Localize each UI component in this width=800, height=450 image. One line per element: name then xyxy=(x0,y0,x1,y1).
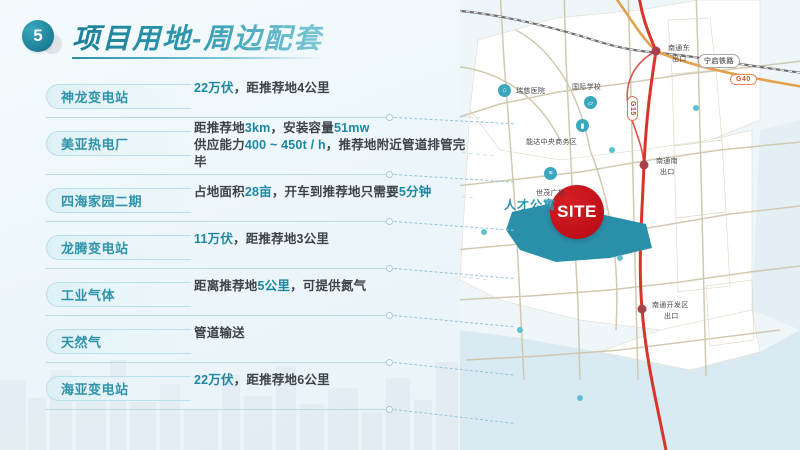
description-text: 距推荐地 xyxy=(194,121,245,135)
facility-description-line: 供应能力400 ~ 450t / h，推荐地附近管道排管完毕 xyxy=(194,137,474,171)
connector-line xyxy=(46,221,386,222)
map-label-hospital: 瑞慈医院 xyxy=(516,86,545,96)
map-label-school: 国际学校 xyxy=(572,82,601,92)
facility-description: 22万伏，距推荐地4公里 xyxy=(194,80,474,97)
connector-line xyxy=(46,362,386,363)
facility-description: 距离推荐地5公里，可提供氮气 xyxy=(194,278,474,295)
slide-header: 5 项目用地-周边配套 xyxy=(22,20,323,60)
facility-description-line: 占地面积28亩，开车到推荐地只需要5分钟 xyxy=(194,184,474,201)
facility-name: 美亚热电厂 xyxy=(61,132,129,157)
map-label-talent-apartment: 人才公寓 xyxy=(504,196,556,213)
facility-connector xyxy=(46,170,796,179)
facility-description-line: 距离推荐地5公里，可提供氮气 xyxy=(194,278,474,295)
connector-dot xyxy=(386,312,393,319)
facility-name: 神龙变电站 xyxy=(61,85,129,110)
facility-name: 天然气 xyxy=(61,330,102,355)
map-label-exit-east-l2: 出口 xyxy=(672,54,687,64)
description-text: 距离推荐地 xyxy=(194,279,258,293)
page-title: 项目用地-周边配套 xyxy=(72,22,323,56)
description-text: ，开车到推荐地只需要 xyxy=(272,185,399,199)
facility-description: 管道输送 xyxy=(194,325,474,342)
connector-dot xyxy=(386,218,393,225)
facility-name: 工业气体 xyxy=(61,283,115,308)
facility-description-line: 管道输送 xyxy=(194,325,474,342)
facility-row[interactable]: 美亚热电厂距推荐地3km，安装容量51mw供应能力400 ~ 450t / h，… xyxy=(46,125,466,182)
facility-row[interactable]: 海亚变电站22万伏，距推荐地6公里 xyxy=(46,370,466,417)
shield-ningqi-railway: 宁启铁路 xyxy=(698,54,740,68)
map-label-cbd: 能达中央商务区 xyxy=(526,137,577,147)
connector-line xyxy=(46,409,386,410)
description-text: ，距推荐地3公里 xyxy=(233,232,329,246)
facility-pill: 龙腾变电站 xyxy=(46,235,191,260)
facility-description-line: 22万伏，距推荐地4公里 xyxy=(194,80,474,97)
facility-connector xyxy=(46,264,796,273)
facility-list: 神龙变电站22万伏，距推荐地4公里美亚热电厂距推荐地3km，安装容量51mw供应… xyxy=(46,78,466,417)
facility-description: 22万伏，距推荐地6公里 xyxy=(194,372,474,389)
facility-description-line: 距推荐地3km，安装容量51mw xyxy=(194,120,474,137)
title-underline xyxy=(72,57,323,59)
facility-pill: 海亚变电站 xyxy=(46,376,191,401)
facility-connector xyxy=(46,405,796,414)
connector-dot xyxy=(386,171,393,178)
facility-pill: 天然气 xyxy=(46,329,191,354)
facility-pill: 神龙变电站 xyxy=(46,84,191,109)
highlight-value: 51mw xyxy=(334,121,370,135)
facility-row[interactable]: 四海家园二期占地面积28亩，开车到推荐地只需要5分钟 xyxy=(46,182,466,229)
highlight-value: 11万伏 xyxy=(194,232,233,246)
hospital-icon: ⌂ xyxy=(498,84,511,97)
facility-description: 占地面积28亩，开车到推荐地只需要5分钟 xyxy=(194,184,474,201)
description-text: 供应能力 xyxy=(194,138,245,152)
connector-line xyxy=(46,268,386,269)
facility-name: 四海家园二期 xyxy=(61,189,142,214)
facility-name: 龙腾变电站 xyxy=(61,236,129,261)
facility-pill: 美亚热电厂 xyxy=(46,131,191,156)
description-text: 管道输送 xyxy=(194,326,245,340)
description-text: ，可提供氮气 xyxy=(290,279,366,293)
map-label-plaza: 世茂广场 xyxy=(536,188,565,198)
highlight-value: 22万伏 xyxy=(194,373,234,387)
slide-root: 5 项目用地-周边配套 xyxy=(0,0,800,450)
facility-connector xyxy=(46,311,796,320)
connector-line xyxy=(46,315,386,316)
map-label-exit-east-l1: 南通东 xyxy=(668,43,690,53)
facility-name: 海亚变电站 xyxy=(61,377,129,402)
facility-pill: 四海家园二期 xyxy=(46,188,191,213)
map-label-exit-devzone-l1: 南通开发区 xyxy=(652,300,689,310)
facility-row[interactable]: 神龙变电站22万伏，距推荐地4公里 xyxy=(46,78,466,125)
facility-connector xyxy=(46,217,796,226)
connector-dot xyxy=(386,406,393,413)
map-label-exit-south-l1: 南通南 xyxy=(656,156,678,166)
facility-row[interactable]: 工业气体距离推荐地5公里，可提供氮气 xyxy=(46,276,466,323)
facility-description: 距推荐地3km，安装容量51mw供应能力400 ~ 450t / h，推荐地附近… xyxy=(194,120,474,171)
facility-row[interactable]: 天然气管道输送 xyxy=(46,323,466,370)
description-text: ，距推荐地6公里 xyxy=(234,373,330,387)
connector-dot xyxy=(386,359,393,366)
facility-connector xyxy=(46,358,796,367)
highlight-value: 5分钟 xyxy=(399,185,432,199)
shield-g40: G40 xyxy=(730,74,757,85)
description-text: ，安装容量 xyxy=(270,121,334,135)
facility-description: 11万伏，距推荐地3公里 xyxy=(194,231,474,248)
highlight-value: 3km xyxy=(245,121,271,135)
connector-line xyxy=(46,117,386,118)
page-title-block: 项目用地-周边配套 xyxy=(72,22,323,59)
highlight-value: 22万伏 xyxy=(194,81,234,95)
badge-number: 5 xyxy=(22,20,54,52)
description-text: ，距推荐地4公里 xyxy=(234,81,330,95)
facility-description-line: 11万伏，距推荐地3公里 xyxy=(194,231,474,248)
connector-dot xyxy=(386,265,393,272)
facility-pill: 工业气体 xyxy=(46,282,191,307)
school-icon: ▱ xyxy=(584,96,597,109)
section-number-badge: 5 xyxy=(22,20,68,60)
connector-line xyxy=(46,174,386,175)
description-text: 占地面积 xyxy=(194,185,245,199)
facility-row[interactable]: 龙腾变电站11万伏，距推荐地3公里 xyxy=(46,229,466,276)
highlight-value: 28亩 xyxy=(245,185,272,199)
facility-description-line: 22万伏，距推荐地6公里 xyxy=(194,372,474,389)
highlight-value: 5公里 xyxy=(258,279,291,293)
highlight-value: 400 ~ 450t / h xyxy=(245,138,326,152)
